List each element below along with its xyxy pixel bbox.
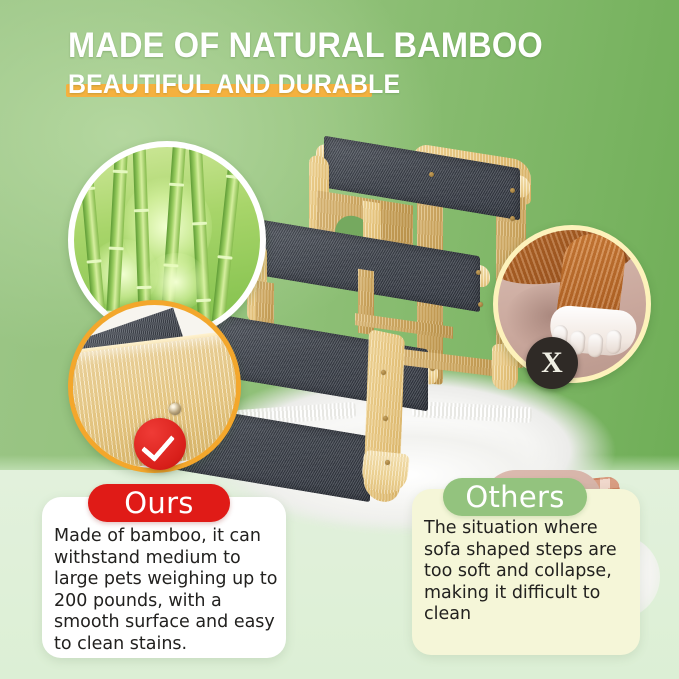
ours-label-pill: Ours xyxy=(88,484,230,522)
screw xyxy=(381,370,386,375)
others-description: The situation where sofa shaped steps ar… xyxy=(424,518,636,626)
page-title: MADE OF NATURAL BAMBOO xyxy=(68,28,607,64)
screw xyxy=(510,188,515,193)
screw xyxy=(385,460,390,465)
screw xyxy=(383,416,388,421)
ours-description: Made of bamboo, it can withstand medium … xyxy=(54,526,282,656)
check-mark-badge xyxy=(134,418,186,470)
infographic-canvas: MADE OF NATURAL BAMBOO BEAUTIFUL AND DUR… xyxy=(0,0,679,679)
heading-block: MADE OF NATURAL BAMBOO BEAUTIFUL AND DUR… xyxy=(68,28,648,101)
closeup-screw xyxy=(169,403,181,415)
screw xyxy=(510,216,515,221)
subtitle-wrap: BEAUTIFUL AND DURABLE xyxy=(68,69,648,101)
others-label-pill: Others xyxy=(443,478,587,516)
screw xyxy=(476,270,481,275)
screw xyxy=(478,302,483,307)
screw xyxy=(429,172,434,177)
x-mark-badge: X xyxy=(526,337,578,389)
page-subtitle: BEAUTIFUL AND DURABLE xyxy=(68,69,602,100)
